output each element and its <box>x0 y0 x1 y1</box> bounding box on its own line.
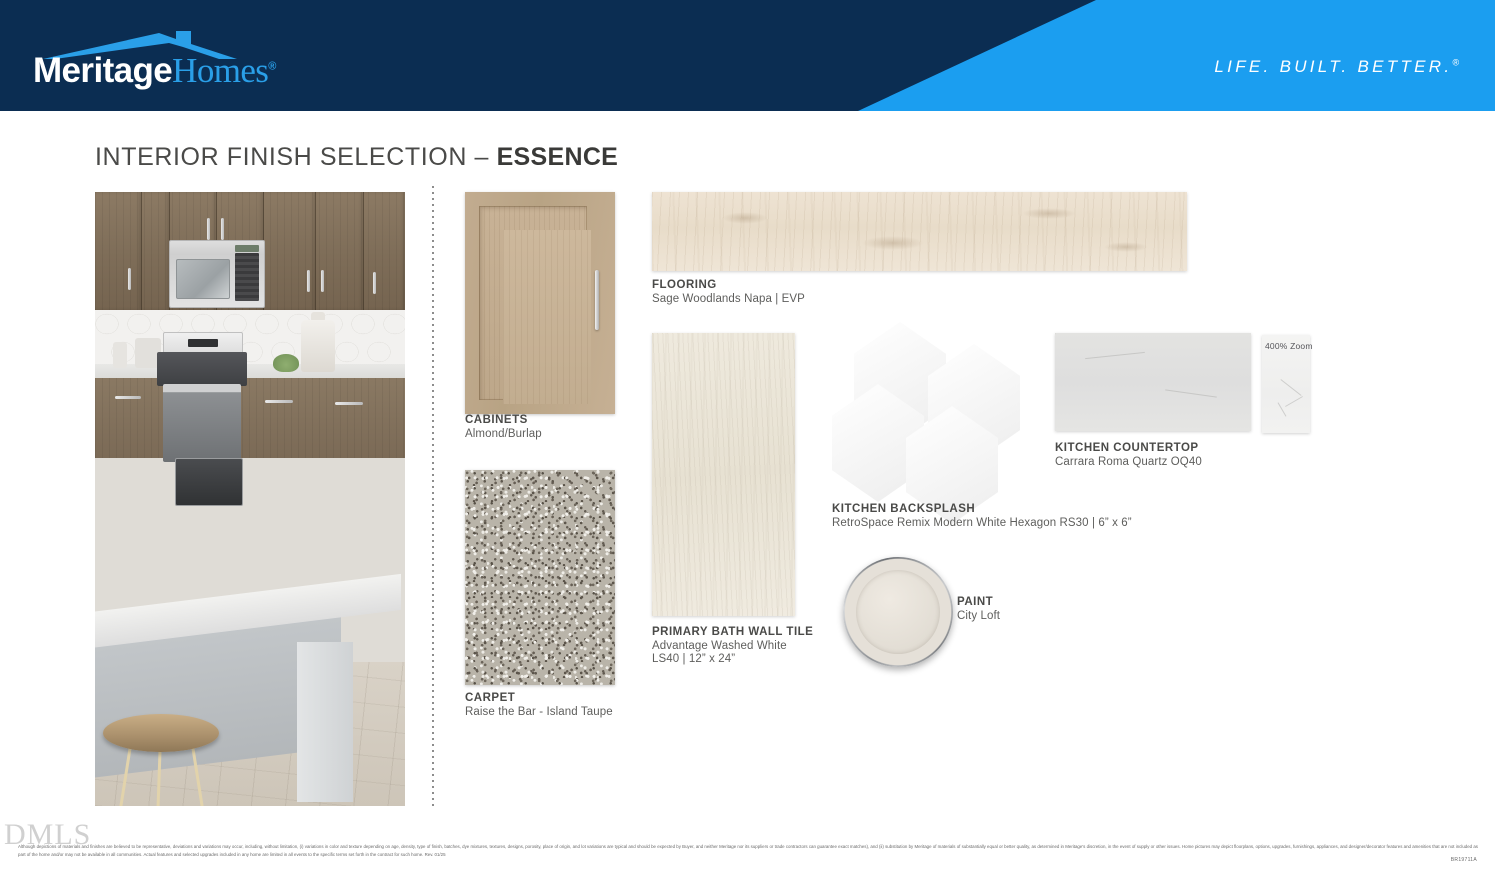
plank-grain-knot <box>862 236 924 250</box>
photo-stool-seat <box>103 714 219 752</box>
photo-island <box>95 612 405 806</box>
label-flooring: FLOORING Sage Woodlands Napa | EVP <box>652 279 805 305</box>
photo-island-end-panel <box>297 642 353 802</box>
vertical-dotted-divider <box>432 186 434 806</box>
photo-microwave-display <box>235 245 259 252</box>
kitchen-countertop-title: KITCHEN COUNTERTOP <box>1055 442 1202 454</box>
logo-meritage-text: Meritage <box>33 51 172 90</box>
photo-cabinet-door <box>315 192 364 310</box>
photo-plant <box>273 354 299 372</box>
cabinet-door-frame <box>479 206 587 400</box>
paint-color-fill <box>856 570 940 654</box>
brand-tagline: LIFE. BUILT. BETTER.® <box>1214 57 1459 77</box>
meritage-homes-logo: MeritageHomes® <box>33 30 333 86</box>
photo-cabinet-handle <box>221 218 224 240</box>
swatch-paint[interactable] <box>843 557 953 667</box>
photo-cabinet-handle <box>128 268 131 290</box>
logo-registered-mark: ® <box>268 60 276 72</box>
photo-drawer-handle <box>265 400 293 403</box>
swatch-flooring[interactable] <box>652 192 1187 271</box>
paint-detail: City Loft <box>957 610 1000 622</box>
photo-crock <box>301 320 335 372</box>
header-blue-wedge <box>795 0 1495 111</box>
photo-cabinet-door <box>363 192 405 310</box>
primary-bath-wall-tile-title: PRIMARY BATH WALL TILE <box>652 626 813 638</box>
photo-range <box>157 332 247 462</box>
photo-canister <box>113 342 127 368</box>
quartz-vein <box>1085 352 1145 359</box>
primary-bath-wall-tile-detail: Advantage Washed White <box>652 640 813 652</box>
photo-cabinet-door <box>95 192 142 310</box>
photo-drawer-handle <box>115 396 141 399</box>
photo-cabinet-door <box>263 192 316 310</box>
swatch-kitchen-countertop[interactable] <box>1055 333 1251 431</box>
label-kitchen-backsplash: KITCHEN BACKSPLASH RetroSpace Remix Mode… <box>832 503 1132 529</box>
photo-oven <box>163 384 241 462</box>
cabinets-title: CABINETS <box>465 414 542 426</box>
label-kitchen-countertop: KITCHEN COUNTERTOP Carrara Roma Quartz O… <box>1055 442 1202 468</box>
kitchen-countertop-detail: Carrara Roma Quartz OQ40 <box>1055 456 1202 468</box>
page-title: INTERIOR FINISH SELECTION – ESSENCE <box>95 143 618 172</box>
photo-oven-window <box>175 458 243 506</box>
carpet-title: CARPET <box>465 692 613 704</box>
kitchen-interior-photo <box>95 192 405 806</box>
flooring-detail: Sage Woodlands Napa | EVP <box>652 293 805 305</box>
photo-cabinet-handle <box>321 270 324 292</box>
plank-grain-knot <box>1022 208 1076 219</box>
photo-drawer-handle <box>335 402 363 405</box>
cabinet-door-handle <box>595 270 599 330</box>
page-title-plan: ESSENCE <box>497 143 619 171</box>
label-primary-bath-wall-tile: PRIMARY BATH WALL TILE Advantage Washed … <box>652 626 813 665</box>
zoom-level-label: 400% Zoom <box>1265 341 1313 351</box>
quartz-vein <box>1278 402 1287 416</box>
swatch-cabinets[interactable] <box>465 192 615 414</box>
page-title-prefix: INTERIOR FINISH SELECTION – <box>95 143 497 171</box>
legal-disclaimer: Although depictions of materials and fin… <box>18 843 1478 858</box>
kitchen-backsplash-title: KITCHEN BACKSPLASH <box>832 503 1132 515</box>
cabinet-door-panel <box>503 230 591 404</box>
photo-cooktop <box>157 352 247 386</box>
photo-cabinet-handle <box>207 218 210 240</box>
photo-lower-cabinets <box>95 378 405 458</box>
logo-wordmark: MeritageHomes® <box>33 51 276 91</box>
plank-grain-knot <box>722 212 768 224</box>
photo-microwave-keypad <box>235 253 259 301</box>
carpet-detail: Raise the Bar - Island Taupe <box>465 706 613 718</box>
quartz-vein <box>1285 396 1303 407</box>
primary-bath-wall-tile-detail-2: LS40 | 12” x 24” <box>652 653 813 665</box>
label-cabinets: CABINETS Almond/Burlap <box>465 414 542 440</box>
logo-homes-text: Homes <box>172 51 268 90</box>
kitchen-backsplash-detail: RetroSpace Remix Modern White Hexagon RS… <box>832 517 1132 529</box>
photo-microwave <box>169 240 265 308</box>
quartz-vein <box>1165 389 1217 397</box>
paint-title: PAINT <box>957 596 1000 608</box>
photo-cabinet-handle <box>307 270 310 292</box>
tagline-registered-mark: ® <box>1452 57 1459 67</box>
photo-microwave-window <box>176 259 230 299</box>
flooring-title: FLOORING <box>652 279 805 291</box>
label-carpet: CARPET Raise the Bar - Island Taupe <box>465 692 613 718</box>
cabinets-detail: Almond/Burlap <box>465 428 542 440</box>
swatch-kitchen-backsplash[interactable] <box>832 322 1030 500</box>
document-code: BR19711A <box>1451 857 1477 863</box>
label-paint: PAINT City Loft <box>957 596 1000 622</box>
swatch-primary-bath-wall-tile[interactable] <box>652 333 795 616</box>
photo-cabinet-handle <box>373 272 376 294</box>
quartz-vein <box>1280 379 1301 396</box>
photo-cabinet-door <box>141 192 170 310</box>
page-header: LIFE. BUILT. BETTER.® MeritageHomes® <box>0 0 1495 111</box>
swatch-carpet[interactable] <box>465 470 615 685</box>
tagline-text: LIFE. BUILT. BETTER. <box>1214 57 1452 76</box>
photo-range-controls <box>188 339 218 347</box>
plank-grain-knot <box>1104 242 1148 252</box>
